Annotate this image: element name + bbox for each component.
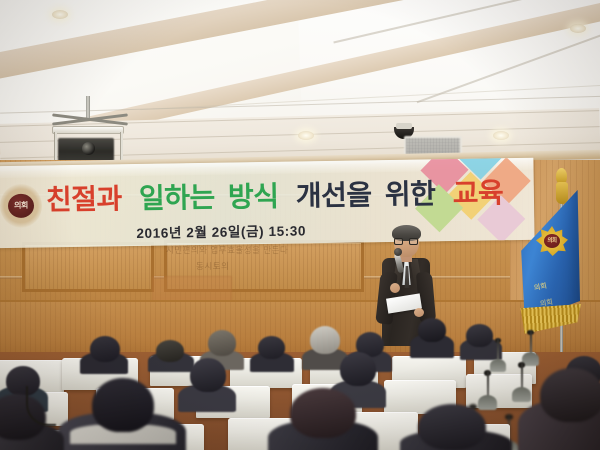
speaker-eyeglasses [394,238,419,245]
wall-recessed-panel [22,242,154,292]
eyeglass-lens [394,238,403,245]
downlight-icon [52,10,68,19]
eyeglass-lens [409,238,418,245]
desk-microphone [522,330,539,366]
flag-tassel [556,182,568,204]
banner-emblem-label: 의회 [8,194,34,218]
attendee-head [340,352,376,386]
speaker-hand-left [390,283,400,293]
photo-scene: 시민편의와 업무효율성을 만든다 동시토의 의회 친절과 일하는 방식 개선을 … [0,0,600,450]
microphone-gooseneck [487,370,489,398]
microphone-gooseneck [521,362,523,390]
wall-ghost-text-line-1: 시민편의와 업무효율성을 만든다 [166,244,288,256]
projector-mount-stem [86,96,90,118]
microphone-base [512,387,531,402]
banner-title-segment: 일하는 [139,177,215,220]
attendee-head [418,318,446,342]
attendee-head [418,404,486,450]
flag-emblem-label: 의회 [544,234,560,248]
attendee-head [290,388,356,438]
microphone-head [394,248,402,256]
banner-title-segment: 방식 [228,176,279,219]
attendee-head [90,336,120,362]
banner-title: 친절과 일하는 방식 개선을 위한 교육 [46,173,467,222]
attendee-head [190,358,226,392]
downlight-icon [570,24,586,33]
attendee-head [156,340,184,362]
banner-title-segment: 개선을 [296,174,372,217]
projector-lens [82,142,95,155]
projector-cage-post [54,132,57,162]
banner-title-segment: 친절과 [46,178,122,221]
banner-date-text: 2016년 2월 26일(금) 15:30 [136,219,306,242]
attendee-head [208,330,236,356]
projector-cage-post [120,132,123,162]
flag-emblem: 의회 [536,226,568,256]
attendee-head [310,326,340,354]
attendee-head [540,368,600,422]
desk-microphone [490,338,506,372]
projector-cage-top [52,126,124,134]
desk-microphone [512,362,531,402]
speaker-hand-right [414,308,424,317]
banner-title-segment: 교육 [452,172,503,215]
attendee-head [258,336,285,359]
banner-council-emblem: 의회 [0,184,42,229]
wall-ghost-text-line-2: 동시토의 [196,260,229,272]
banner-title-segment: 위한 [385,173,436,216]
event-banner: 의회 친절과 일하는 방식 개선을 위한 교육 2016년 2월 26일(금) … [0,158,535,248]
attendee-head [92,378,154,432]
downlight-icon [298,131,314,140]
downlight-icon [493,131,509,140]
attendee-head [466,324,493,347]
